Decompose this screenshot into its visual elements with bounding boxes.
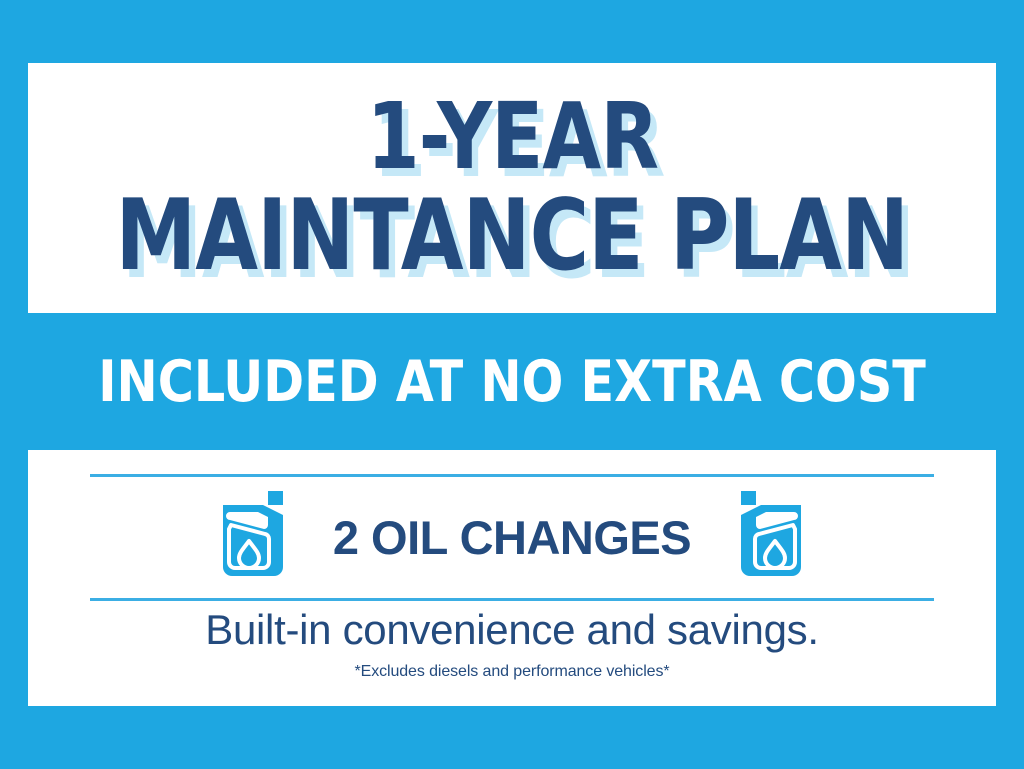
headline-line-1: 1-YEAR (366, 92, 657, 182)
tagline-text: Built-in convenience and savings. (28, 606, 996, 654)
divider-bottom (90, 598, 934, 601)
headline-line-2: MAINTANCE PLAN (116, 188, 909, 284)
promo-poster: 1-YEAR MAINTANCE PLAN INCLUDED AT NO EXT… (0, 0, 1024, 769)
headline-card: 1-YEAR MAINTANCE PLAN (28, 63, 996, 313)
offer-row: 2 OIL CHANGES (90, 477, 934, 598)
offer-label: 2 OIL CHANGES (333, 510, 691, 565)
oil-jug-icon (213, 489, 291, 586)
subtitle-text: INCLUDED AT NO EXTRA COST (98, 349, 926, 415)
details-card: 2 OIL CHANGES Built-in convenience and s… (28, 450, 996, 706)
subtitle-band: INCLUDED AT NO EXTRA COST (0, 313, 1024, 450)
oil-jug-icon (733, 489, 811, 586)
fineprint-text: *Excludes diesels and performance vehicl… (28, 663, 996, 681)
